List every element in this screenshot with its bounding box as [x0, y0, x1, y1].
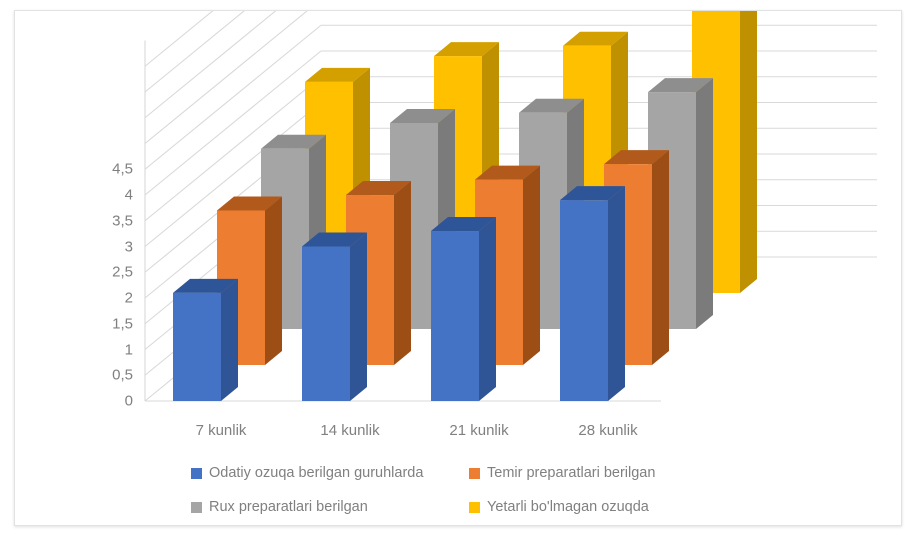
bar-side-face — [479, 217, 496, 401]
legend-row-2: Rux preparatlari berilganYetarli bo'lmag… — [191, 490, 811, 524]
legend-row-1: Odatiy ozuqa berilgan guruhlardaTemir pr… — [191, 456, 811, 490]
bar-side-face — [265, 197, 282, 366]
chart-legend: Odatiy ozuqa berilgan guruhlardaTemir pr… — [191, 456, 811, 524]
bar-1-3[interactable] — [431, 217, 496, 401]
bars-group — [173, 11, 757, 401]
legend-label: Odatiy ozuqa berilgan guruhlarda — [209, 466, 423, 481]
bar-side-face — [696, 78, 713, 329]
bar-front-face — [302, 247, 350, 402]
x-axis-tick-1: 14 kunlik — [320, 423, 379, 438]
gridline-depth — [145, 11, 321, 118]
x-axis-tick-0: 7 kunlik — [196, 423, 247, 438]
bar-side-face — [221, 279, 238, 401]
x-axis-tick-3: 28 kunlik — [578, 423, 637, 438]
legend-item-3[interactable]: Rux preparatlari berilgan — [191, 500, 469, 515]
x-axis-tick-2: 21 kunlik — [449, 423, 508, 438]
bar-side-face — [652, 150, 669, 365]
bar-front-face — [173, 293, 221, 401]
gridline-depth — [145, 11, 321, 92]
bar-side-face — [740, 11, 757, 293]
legend-swatch-icon — [191, 502, 202, 513]
bar-1-1[interactable] — [173, 279, 238, 401]
bar-side-face — [523, 166, 540, 365]
legend-swatch-icon — [191, 468, 202, 479]
bar-side-face — [394, 181, 411, 365]
legend-swatch-icon — [469, 502, 480, 513]
chart-frame: 00,511,522,533,544,5 7 kunlik14 kunlik21… — [14, 10, 902, 526]
legend-label: Temir preparatlari berilgan — [487, 466, 655, 481]
bar-1-2[interactable] — [302, 233, 367, 402]
gridline-depth — [145, 11, 321, 66]
legend-item-1[interactable]: Odatiy ozuqa berilgan guruhlarda — [191, 466, 469, 481]
bar-side-face — [608, 186, 625, 401]
bar-1-4[interactable] — [560, 186, 625, 401]
bar-front-face — [560, 200, 608, 401]
legend-label: Rux preparatlari berilgan — [209, 500, 368, 515]
plot-area — [15, 11, 903, 527]
legend-swatch-icon — [469, 468, 480, 479]
legend-item-2[interactable]: Temir preparatlari berilgan — [469, 466, 655, 481]
bar-front-face — [431, 231, 479, 401]
legend-item-4[interactable]: Yetarli bo'lmagan ozuqda — [469, 500, 649, 515]
bar-side-face — [350, 233, 367, 402]
legend-label: Yetarli bo'lmagan ozuqda — [487, 500, 649, 515]
